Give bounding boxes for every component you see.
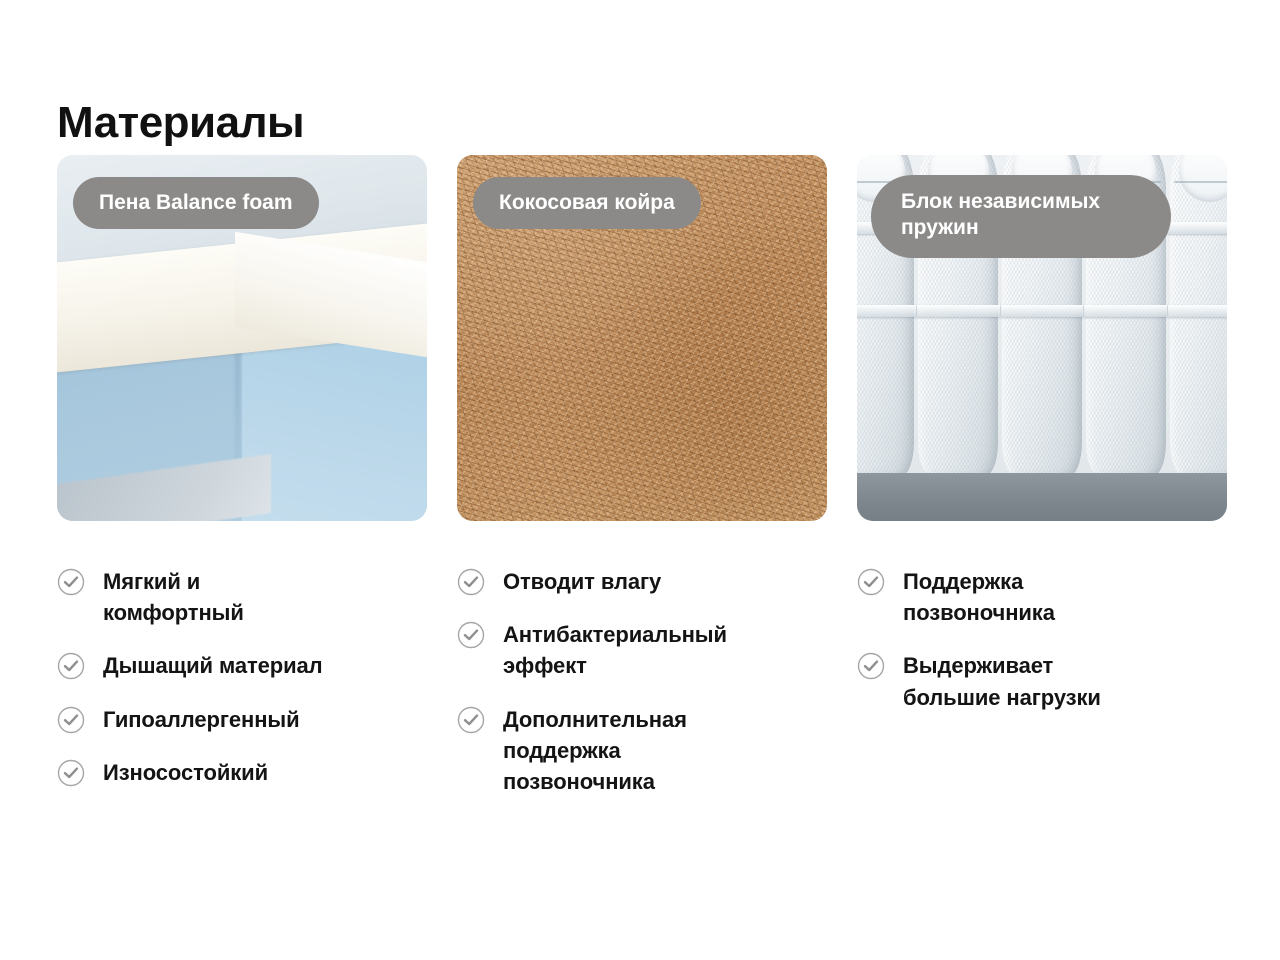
materials-slide: Материалы Пена Balance foam Кокосовая ко… (0, 0, 1280, 960)
check-circle-icon (857, 568, 885, 596)
list-item: Гипоаллергенный (57, 704, 457, 735)
list-item: Отводит влагу (457, 566, 857, 597)
check-circle-icon (57, 568, 85, 596)
spring-unit (1170, 155, 1228, 477)
material-card-coir[interactable]: Кокосовая койра (457, 155, 827, 521)
spring-floor (857, 473, 1227, 521)
card-badge-coir: Кокосовая койра (473, 177, 701, 229)
material-card-springs[interactable]: Блок независимых пружин (857, 155, 1227, 521)
list-item-label: Мягкий и комфортный (103, 566, 244, 628)
material-card-foam[interactable]: Пена Balance foam (57, 155, 427, 521)
check-circle-icon (857, 652, 885, 680)
list-item-label: Дышащий материал (103, 650, 323, 681)
list-item: Антибактериальный эффект (457, 619, 857, 681)
list-item-label: Отводит влагу (503, 566, 661, 597)
list-item-label: Антибактериальный эффект (503, 619, 727, 681)
check-circle-icon (57, 652, 85, 680)
check-circle-icon (57, 706, 85, 734)
list-item: Выдерживает большие нагрузки (857, 650, 1237, 712)
list-item-label: Износостойкий (103, 757, 268, 788)
feature-column-foam: Мягкий и комфортный Дышащий материал Гип… (57, 566, 457, 819)
list-item-label: Дополнительная поддержка позвоночника (503, 704, 687, 798)
check-circle-icon (457, 706, 485, 734)
list-item: Поддержка позвоночника (857, 566, 1237, 628)
list-item: Мягкий и комфортный (57, 566, 457, 628)
list-item: Износостойкий (57, 757, 457, 788)
feature-columns: Мягкий и комфортный Дышащий материал Гип… (57, 566, 1237, 819)
list-item-label: Гипоаллергенный (103, 704, 300, 735)
page-title: Материалы (57, 99, 304, 147)
check-circle-icon (457, 568, 485, 596)
card-badge-foam: Пена Balance foam (73, 177, 319, 229)
material-cards-row: Пена Balance foam Кокосовая койра Блок н… (57, 155, 1223, 521)
list-item-label: Выдерживает большие нагрузки (903, 650, 1101, 712)
check-circle-icon (457, 621, 485, 649)
card-badge-springs: Блок независимых пружин (871, 175, 1171, 258)
check-circle-icon (57, 759, 85, 787)
feature-column-coir: Отводит влагу Антибактериальный эффект Д… (457, 566, 857, 819)
list-item-label: Поддержка позвоночника (903, 566, 1055, 628)
feature-column-springs: Поддержка позвоночника Выдерживает больш… (857, 566, 1237, 819)
list-item: Дополнительная поддержка позвоночника (457, 704, 857, 798)
list-item: Дышащий материал (57, 650, 457, 681)
